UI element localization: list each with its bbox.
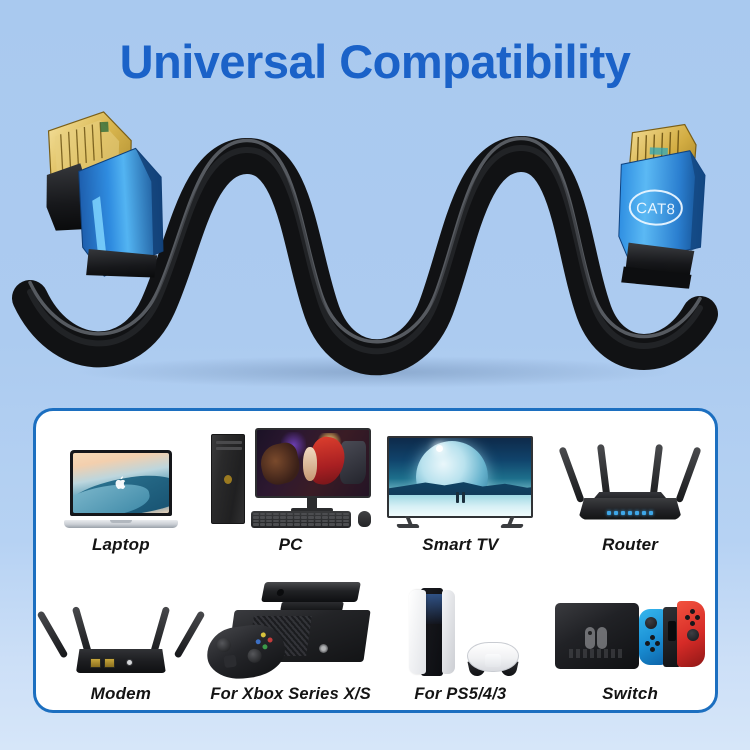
xbox-controller-icon: [203, 621, 287, 683]
page-title: Universal Compatibility: [0, 38, 750, 85]
router-icon: [545, 424, 715, 528]
smart-tv-icon: [376, 424, 546, 528]
laptop-icon: [36, 424, 206, 528]
device-cell-pc[interactable]: PC: [206, 411, 376, 561]
device-label: For PS5/4/3: [414, 685, 506, 704]
device-cell-modem[interactable]: Modem: [36, 561, 206, 711]
modem-icon: [36, 573, 206, 677]
desktop-pc-icon: [206, 424, 376, 528]
xbox-console-icon: [206, 574, 376, 678]
compatibility-panel: Laptop: [33, 408, 718, 713]
device-label: Modem: [91, 684, 152, 704]
product-infographic: Universal Compatibility: [0, 0, 750, 750]
svg-text:CAT8: CAT8: [636, 200, 676, 218]
joycon-left-icon: [639, 609, 665, 665]
device-grid: Laptop: [36, 411, 715, 710]
modem-ports: [90, 658, 115, 668]
joycon-right-icon: [677, 601, 705, 667]
cable-hero-image: CAT8: [0, 100, 750, 390]
nintendo-switch-icon: [545, 573, 715, 677]
switch-logo-icon: [581, 625, 611, 651]
device-cell-smart-tv[interactable]: Smart TV: [376, 411, 546, 561]
device-cell-router[interactable]: Router: [545, 411, 715, 561]
device-cell-playstation[interactable]: For PS5/4/3: [376, 561, 546, 711]
router-led-indicators: [607, 511, 653, 515]
device-label: Router: [602, 535, 658, 555]
rj45-connector-left: [34, 105, 178, 287]
apple-logo-icon: [114, 475, 127, 490]
device-cell-laptop[interactable]: Laptop: [36, 411, 206, 561]
device-label: Smart TV: [422, 535, 498, 555]
playstation-console-icon: [376, 574, 546, 678]
rj45-connector-right: CAT8: [605, 116, 731, 290]
page-title-wrap: Universal Compatibility: [0, 38, 750, 85]
device-label: Switch: [602, 684, 658, 704]
device-label: PC: [279, 535, 303, 555]
dualsense-controller-icon: [467, 638, 519, 672]
device-cell-xbox[interactable]: For Xbox Series X/S: [206, 561, 376, 711]
device-label: For Xbox Series X/S: [210, 685, 371, 704]
device-cell-switch[interactable]: Switch: [545, 561, 715, 711]
device-label: Laptop: [92, 535, 150, 555]
